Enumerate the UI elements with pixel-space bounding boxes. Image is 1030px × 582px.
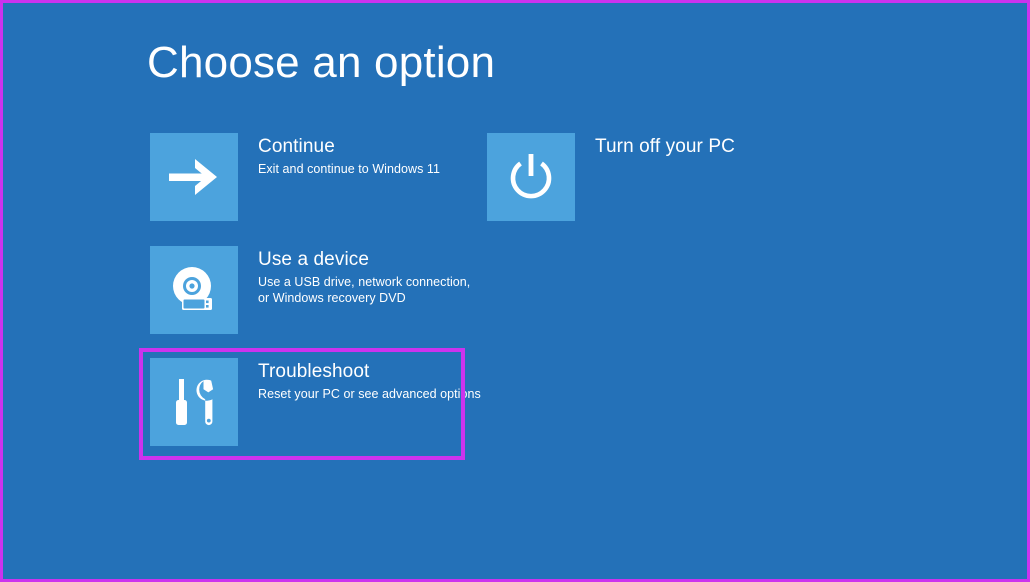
disc-usb-device-icon <box>166 264 222 316</box>
recovery-choose-option-screen: Choose an option Continue Exit and conti… <box>0 0 1030 582</box>
option-use-a-device-subtitle: Use a USB drive, network connection, or … <box>258 274 470 306</box>
option-turn-off-your-pc-title: Turn off your PC <box>595 135 735 159</box>
option-use-a-device[interactable]: Use a device Use a USB drive, network co… <box>150 246 470 334</box>
option-use-a-device-title: Use a device <box>258 248 470 272</box>
option-continue-title: Continue <box>258 135 440 159</box>
option-continue[interactable]: Continue Exit and continue to Windows 11 <box>150 133 440 221</box>
option-troubleshoot-subtitle-line-1: Reset your PC or see advanced options <box>258 386 481 402</box>
option-troubleshoot[interactable]: Troubleshoot Reset your PC or see advanc… <box>150 358 481 446</box>
option-continue-text: Continue Exit and continue to Windows 11 <box>258 133 440 177</box>
page-title: Choose an option <box>147 39 495 87</box>
option-use-a-device-subtitle-line-2: or Windows recovery DVD <box>258 290 470 306</box>
option-troubleshoot-tile[interactable] <box>150 358 238 446</box>
option-troubleshoot-text: Troubleshoot Reset your PC or see advanc… <box>258 358 481 402</box>
option-use-a-device-text: Use a device Use a USB drive, network co… <box>258 246 470 306</box>
option-continue-tile[interactable] <box>150 133 238 221</box>
screwdriver-wrench-icon <box>168 375 220 429</box>
option-use-a-device-tile[interactable] <box>150 246 238 334</box>
option-troubleshoot-subtitle: Reset your PC or see advanced options <box>258 386 481 402</box>
option-continue-subtitle: Exit and continue to Windows 11 <box>258 161 440 177</box>
option-turn-off-your-pc-tile[interactable] <box>487 133 575 221</box>
option-turn-off-your-pc-text: Turn off your PC <box>595 133 735 161</box>
option-use-a-device-subtitle-line-1: Use a USB drive, network connection, <box>258 274 470 290</box>
arrow-right-icon <box>167 155 221 199</box>
option-turn-off-your-pc[interactable]: Turn off your PC <box>487 133 735 221</box>
power-icon <box>505 151 557 203</box>
option-troubleshoot-title: Troubleshoot <box>258 360 481 384</box>
option-continue-subtitle-line-1: Exit and continue to Windows 11 <box>258 161 440 177</box>
